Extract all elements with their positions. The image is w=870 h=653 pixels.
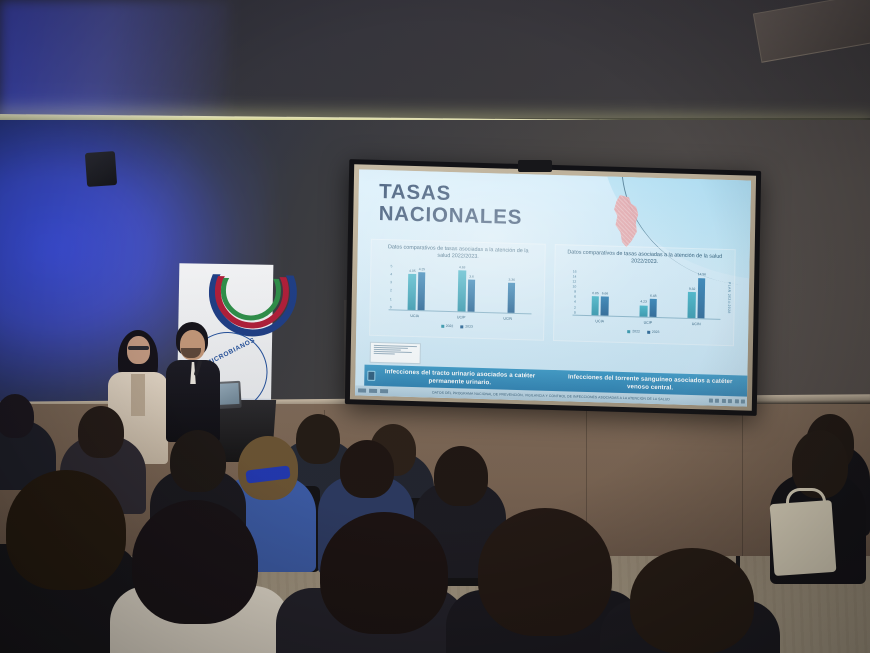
catheter-icon bbox=[367, 370, 375, 380]
slideshow-controls[interactable] bbox=[708, 399, 745, 404]
attendee-head bbox=[630, 548, 754, 653]
options-icon[interactable] bbox=[728, 399, 732, 403]
bar-group: 4.05 4.25 bbox=[408, 265, 426, 310]
legend-swatch bbox=[647, 331, 650, 334]
legend-label: 2022 bbox=[446, 324, 454, 328]
projection-screen: TASAS NACIONALES Datos comparativos de t… bbox=[345, 159, 761, 416]
wall-seam bbox=[742, 410, 743, 560]
presentation-slide: TASAS NACIONALES Datos comparativos de t… bbox=[355, 169, 751, 406]
legend-swatch bbox=[441, 325, 444, 328]
zoom-icon[interactable] bbox=[708, 399, 712, 403]
attendee-head bbox=[340, 440, 394, 498]
bar-group: 4.63 3.6 bbox=[458, 267, 476, 312]
legend-swatch bbox=[627, 330, 630, 333]
category-label: UCIP bbox=[644, 320, 653, 324]
presenter-woman-glasses bbox=[128, 346, 149, 350]
attendee-head bbox=[434, 446, 488, 506]
legend-item-2022: 2022 bbox=[627, 329, 640, 333]
bar-group: 9.32 14.56 bbox=[688, 273, 706, 318]
category-label: UCIP bbox=[457, 315, 466, 319]
screen-surface: TASAS NACIONALES Datos comparativos de t… bbox=[355, 169, 751, 406]
attendee-head bbox=[478, 508, 612, 636]
bar-group: 6.85 6.66 bbox=[591, 271, 609, 316]
banner-right-text: Infecciones del torrente sanguíneo asoci… bbox=[561, 373, 740, 393]
attendee-head bbox=[0, 394, 34, 438]
slide-thumb-icon[interactable] bbox=[369, 389, 377, 393]
pen-icon[interactable] bbox=[721, 399, 725, 403]
chart-title-right: Datos comparativos de tasas asociadas a … bbox=[566, 249, 724, 268]
chart-legend-left: 2022 2023 bbox=[371, 322, 543, 331]
bar-value: 4.25 bbox=[419, 267, 425, 271]
bar-2023: 6.48 bbox=[649, 299, 657, 317]
attendee-head bbox=[6, 470, 126, 590]
y-axis-left: 5 4 3 2 1 0 bbox=[378, 265, 393, 310]
screen-mount bbox=[518, 160, 552, 172]
fullscreen-icon[interactable] bbox=[741, 399, 745, 403]
bar-value: 3.36 bbox=[508, 278, 514, 282]
bar-value: 4.23 bbox=[640, 300, 646, 304]
attendee-head bbox=[132, 500, 258, 624]
y-axis-right: 16 14 12 10 8 6 4 2 0 bbox=[561, 270, 576, 315]
category-label: UCIA bbox=[410, 314, 419, 318]
chart-title-left: Datos comparativos de tasas asociadas a … bbox=[382, 244, 534, 263]
bar-value: 6.85 bbox=[592, 291, 598, 295]
bar-value: 9.32 bbox=[689, 287, 695, 291]
bar-value: 4.05 bbox=[409, 269, 415, 273]
attendee-head bbox=[320, 512, 448, 634]
bar-2022: 6.85 bbox=[591, 296, 599, 315]
prev-slide-icon[interactable] bbox=[358, 388, 366, 392]
logo-line bbox=[374, 353, 395, 355]
bar-2023: 3.6 bbox=[467, 280, 475, 312]
bar-group: 4.23 6.48 bbox=[640, 272, 658, 317]
bar-2022: 4.63 bbox=[458, 270, 466, 312]
attendee-head bbox=[296, 414, 340, 464]
plot-area-right: 16 14 12 10 8 6 4 2 0 bbox=[576, 270, 722, 319]
presenter-woman-blouse bbox=[131, 374, 145, 416]
tote-bag-handle bbox=[786, 488, 826, 517]
legend-item-2023: 2023 bbox=[647, 330, 660, 334]
bar-2022: 4.05 bbox=[408, 274, 416, 310]
next-slide-icon[interactable] bbox=[380, 389, 388, 393]
category-labels-left: UCIA UCIP UCIN bbox=[391, 313, 531, 321]
bar-groups-left: 4.05 4.25 4.63 bbox=[392, 265, 532, 314]
category-label: UCIA bbox=[595, 319, 604, 323]
bar-value: 6.66 bbox=[602, 292, 608, 296]
legend-label: 2023 bbox=[652, 330, 660, 334]
plan-side-note: PLAN 2024-2028 bbox=[727, 282, 732, 314]
bar-2023: 4.25 bbox=[417, 272, 425, 310]
presenter-view-icon[interactable] bbox=[715, 399, 719, 403]
slide-title-line-2: NACIONALES bbox=[378, 203, 522, 229]
legend-label: 2022 bbox=[632, 330, 640, 334]
attendee-head bbox=[170, 430, 226, 492]
slide-source-logo-box bbox=[370, 342, 421, 364]
wall-speaker bbox=[85, 151, 117, 187]
slide-nav-left[interactable] bbox=[358, 388, 388, 393]
chart-legend-right: 2022 2023 bbox=[554, 327, 733, 336]
bar-value: 3.6 bbox=[469, 274, 474, 278]
category-label: UCIN bbox=[692, 322, 701, 326]
plot-area-left: 5 4 3 2 1 0 4.05 bbox=[392, 265, 532, 314]
bar-2023: 14.56 bbox=[697, 278, 705, 319]
bar-2023: 3.36 bbox=[507, 283, 515, 313]
legend-label: 2023 bbox=[465, 325, 473, 329]
banner-left-text: Infecciones del tracto urinario asociado… bbox=[372, 368, 549, 388]
bar-group: 3.36 bbox=[507, 268, 515, 313]
bar-groups-right: 6.85 6.66 4.23 bbox=[576, 270, 722, 319]
bar-2022: 9.32 bbox=[688, 292, 696, 318]
presenter-woman-head bbox=[127, 336, 150, 364]
legend-swatch bbox=[460, 325, 463, 328]
legend-item-2022: 2022 bbox=[441, 324, 454, 328]
legend-item-2023: 2023 bbox=[460, 325, 473, 329]
chart-card-right: Datos comparativos de tasas asociadas a … bbox=[553, 244, 735, 346]
bar-value: 6.48 bbox=[650, 294, 656, 298]
chart-card-left: Datos comparativos de tasas asociadas a … bbox=[369, 239, 545, 341]
minimize-icon[interactable] bbox=[734, 399, 738, 403]
category-labels-right: UCIA UCIP UCIN bbox=[576, 318, 721, 326]
slide-title: TASAS NACIONALES bbox=[378, 181, 522, 229]
conference-room-photo: TASAS NACIONALES Datos comparativos de t… bbox=[0, 0, 870, 653]
category-label: UCIN bbox=[503, 316, 512, 320]
bar-value: 4.63 bbox=[459, 265, 465, 269]
bar-2023: 6.66 bbox=[601, 297, 609, 316]
bar-value: 14.56 bbox=[698, 273, 706, 277]
attendee-head bbox=[78, 406, 124, 458]
